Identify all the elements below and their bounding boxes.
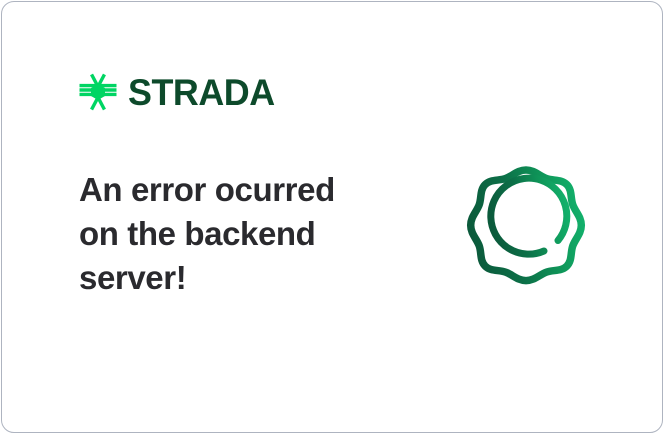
error-heading: An error ocurred on the backend server! xyxy=(79,168,379,300)
gear-cog-icon xyxy=(448,147,604,303)
error-card: STRADA An error ocurred on the backend s… xyxy=(1,1,663,433)
brand-wordmark: STRADA xyxy=(128,74,275,111)
brand-lockup: STRADA xyxy=(79,72,279,112)
strada-asterisk-icon xyxy=(79,72,117,112)
